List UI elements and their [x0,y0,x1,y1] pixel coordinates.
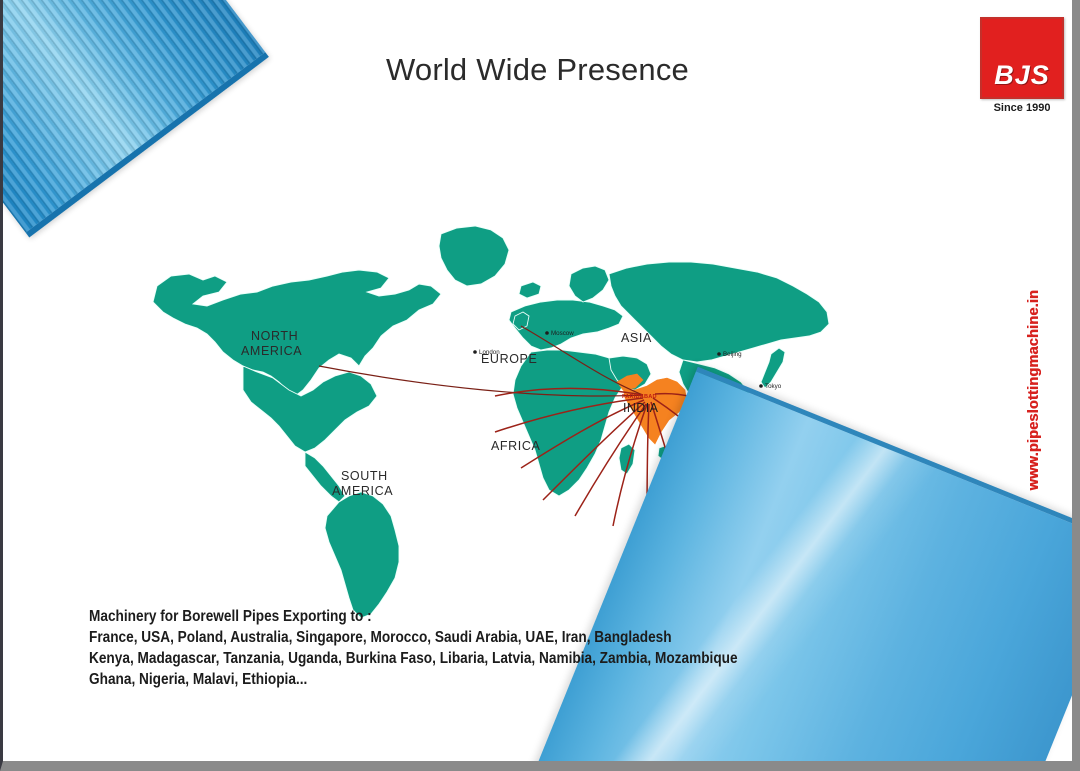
blurb-line-1: France, USA, Poland, Australia, Singapor… [89,627,705,648]
presentation-slide: World Wide Presence BJS Since 1990 www.p… [0,0,1080,771]
city-label-london: London [479,349,500,356]
blurb-heading: Machinery for Borewell Pipes Exporting t… [89,606,705,627]
page-title: World Wide Presence [3,52,1072,88]
city-dot-tokyo [759,384,763,388]
hub-marker-india: FARIDABAD INDIA [622,394,659,415]
continent-label-asia: ASIA [621,331,652,345]
continent-label-south-america-line1: SOUTH [341,469,388,483]
hub-city-label: FARIDABAD [622,394,657,400]
brand-logo: BJS Since 1990 [978,17,1066,114]
slide-canvas: World Wide Presence BJS Since 1990 www.p… [3,0,1072,761]
city-dot-moscow [545,331,549,335]
city-dot-beijing [717,352,721,356]
continent-label-south-america-line2: AMERICA [332,484,393,498]
continent-label-north-america-line1: NORTH [251,329,298,343]
logo-box: BJS [980,17,1064,99]
export-countries-block: Machinery for Borewell Pipes Exporting t… [89,606,705,690]
hub-country-label: INDIA [623,401,659,415]
website-url-vertical[interactable]: www.pipeslottingmachine.in [1026,290,1042,490]
logo-tagline: Since 1990 [978,102,1066,114]
blurb-line-2: Kenya, Madagascar, Tanzania, Uganda, Bur… [89,648,705,669]
city-label-beijing: Beijing [723,351,742,358]
city-dot-london [473,350,477,354]
city-label-moscow: Moscow [551,330,574,337]
continent-label-africa: AFRICA [491,439,540,453]
blurb-line-3: Ghana, Nigeria, Malavi, Ethiopia... [89,669,705,690]
city-label-tokyo: Tokyo [765,383,782,390]
continent-label-north-america-line2: AMERICA [241,344,302,358]
logo-name: BJS [982,60,1062,91]
